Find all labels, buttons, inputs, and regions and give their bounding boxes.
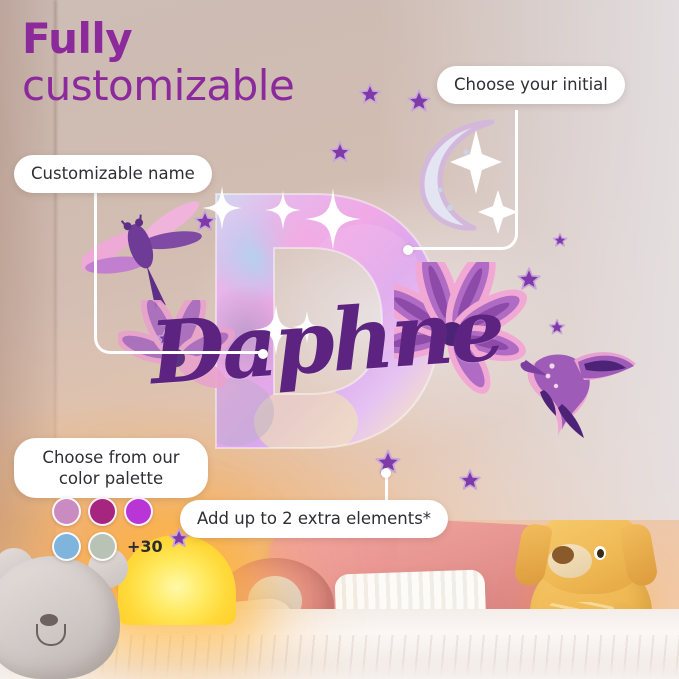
callout-label: Add up to 2 extra elements*	[197, 509, 431, 528]
purple-star-icon	[516, 266, 542, 292]
callout-customizable-name[interactable]: Customizable name	[14, 155, 212, 193]
plush-dog-nose	[552, 546, 574, 564]
swatch-more-count[interactable]: +30	[127, 537, 163, 556]
sparkle-icon	[305, 188, 361, 254]
headline-line-1: Fully	[22, 18, 294, 61]
swatch-sage-grey[interactable]	[88, 532, 117, 561]
purple-star-icon	[358, 82, 382, 106]
connector-choose-initial	[408, 110, 518, 250]
connector-dot-extra-elements	[381, 468, 391, 478]
swatch-mauve-pink[interactable]	[52, 497, 81, 526]
callout-label: Choose your initial	[454, 75, 608, 94]
plush-dog-pupil	[597, 549, 604, 558]
callout-label-line1: Choose from our	[31, 447, 191, 468]
callout-extra-elements[interactable]: Add up to 2 extra elements*	[180, 500, 448, 538]
swatch-bright-purple[interactable]	[124, 497, 153, 526]
headline-line-2: customizable	[22, 65, 294, 108]
purple-star-icon	[458, 468, 482, 492]
connector-dot-customizable-name	[258, 349, 268, 359]
purple-star-icon	[328, 140, 352, 164]
connector-customizable-name	[94, 184, 264, 354]
sparkle-icon	[265, 190, 301, 234]
callout-choose-your-initial[interactable]: Choose your initial	[437, 66, 625, 104]
callout-label-line2: color palette	[31, 468, 191, 489]
purple-star-icon	[548, 318, 566, 336]
swatch-row-2: +30	[52, 532, 163, 561]
swatch-sky-blue[interactable]	[52, 532, 81, 561]
swatch-magenta[interactable]	[88, 497, 117, 526]
callout-color-palette[interactable]: Choose from our color palette	[14, 438, 208, 498]
hummingbird-icon	[518, 332, 646, 446]
purple-star-icon	[552, 232, 568, 248]
connector-dot-choose-initial	[403, 245, 413, 255]
product-marketing-image: Daphne Fully customizable Customizable n…	[0, 0, 679, 679]
page-title: Fully customizable	[22, 18, 294, 108]
callout-label: Customizable name	[31, 164, 195, 183]
color-palette-swatches[interactable]: +30	[52, 497, 163, 567]
swatch-row-1	[52, 497, 163, 526]
